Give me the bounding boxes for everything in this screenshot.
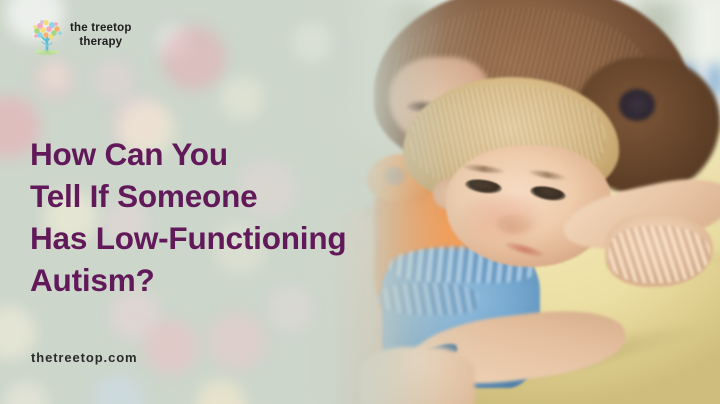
social-media-banner: the treetop therapy How Can You Tell If … [0, 0, 720, 404]
logo-wordmark: the treetop therapy [70, 22, 132, 49]
headline: How Can You Tell If Someone Has Low-Func… [30, 133, 450, 301]
headline-line-1: How Can You [30, 133, 450, 175]
brand-logo[interactable]: the treetop therapy [30, 16, 132, 56]
colorful-tree-icon [30, 16, 64, 56]
headline-line-4: Autism? [30, 259, 450, 301]
website-url[interactable]: thetreetop.com [31, 350, 138, 365]
logo-line-2: therapy [79, 36, 122, 48]
logo-line-1: the treetop [70, 22, 132, 34]
headline-line-2: Tell If Someone [30, 175, 450, 217]
headline-line-3: Has Low-Functioning [30, 217, 450, 259]
